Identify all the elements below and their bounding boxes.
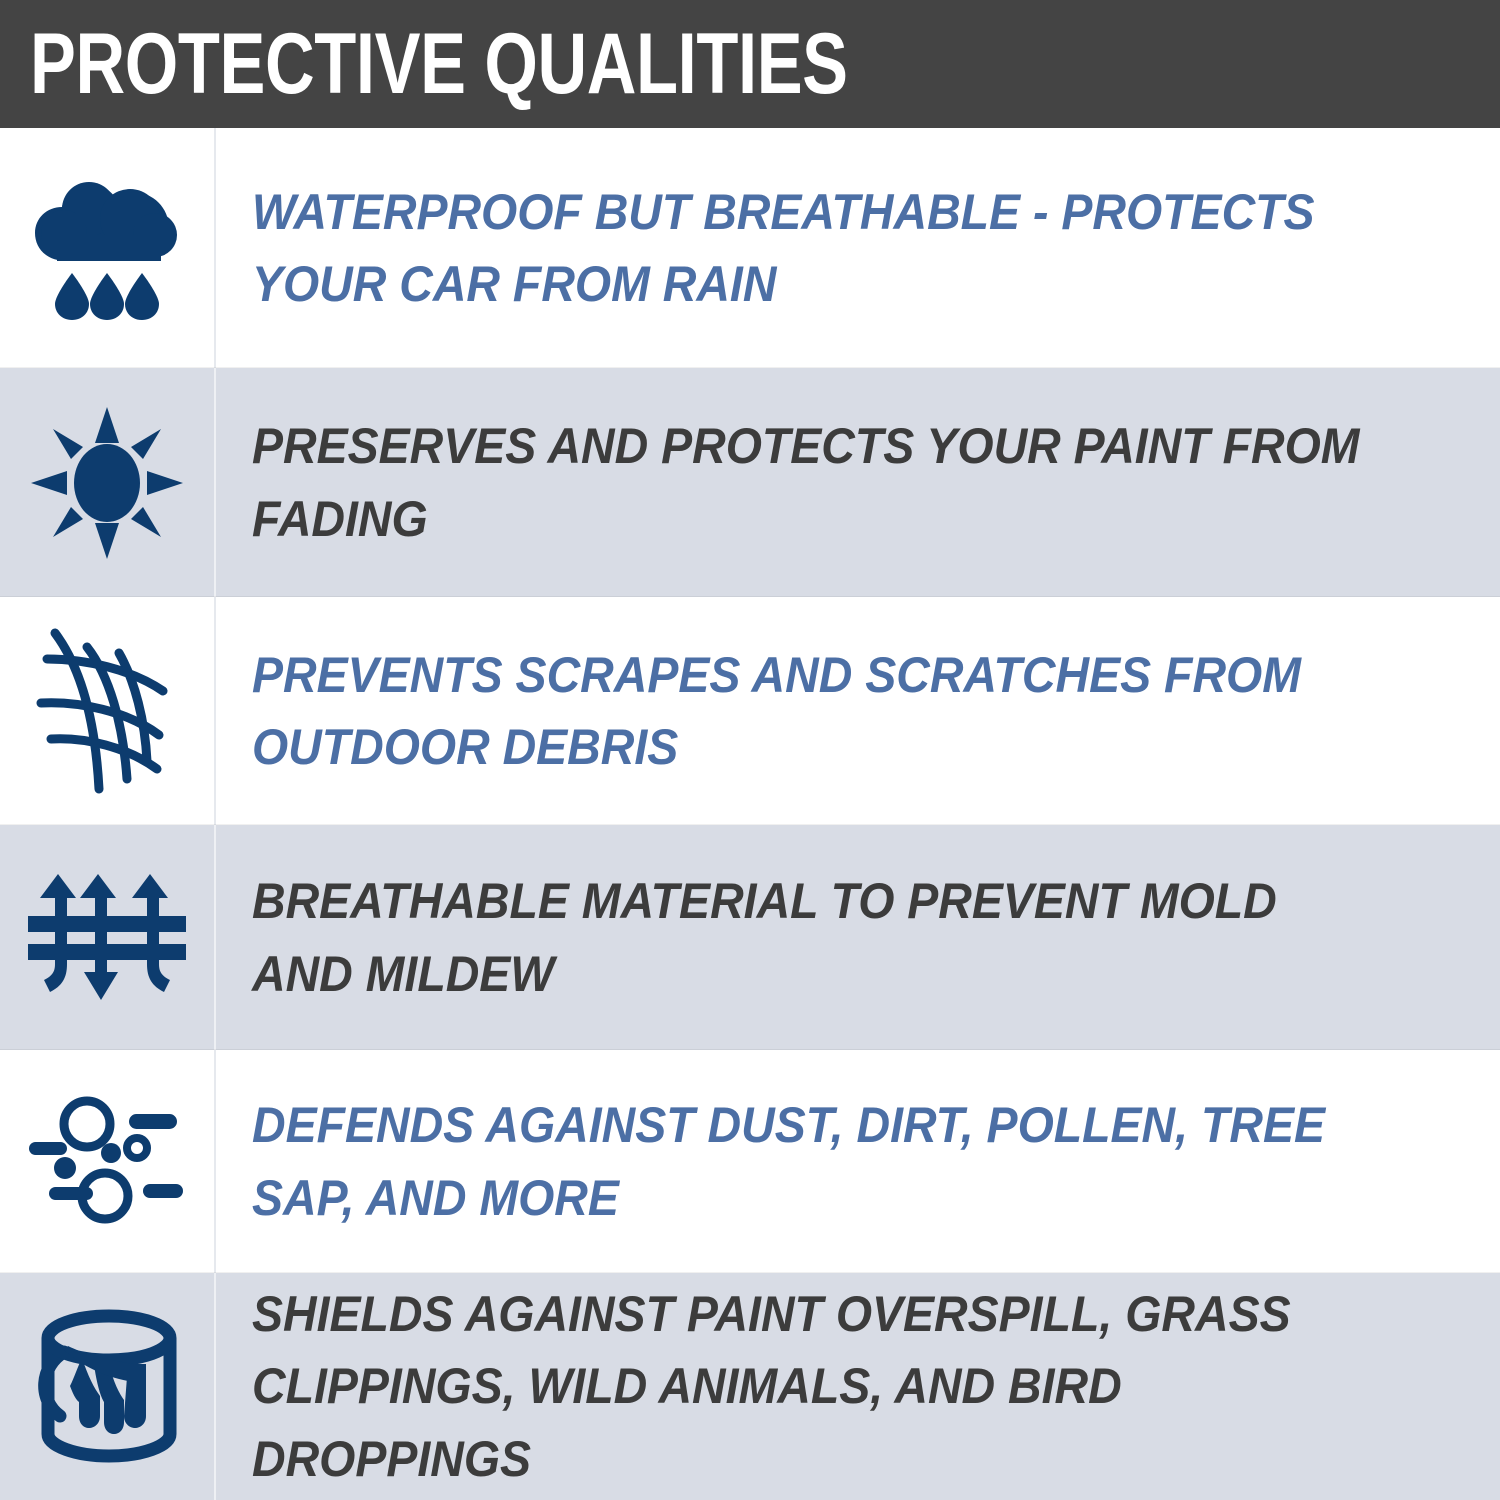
rain-cloud-icon [27, 173, 187, 323]
icon-cell [0, 1050, 214, 1273]
feature-text: PREVENTS SCRAPES AND SCRATCHES FROM OUTD… [252, 639, 1366, 784]
feature-text: WATERPROOF BUT BREATHABLE - PROTECTS YOU… [252, 176, 1366, 321]
text-cell: PRESERVES AND PROTECTS YOUR PAINT FROM F… [216, 368, 1500, 597]
feature-row: SHIELDS AGAINST PAINT OVERSPILL, GRASS C… [0, 1273, 1500, 1500]
text-cell: DEFENDS AGAINST DUST, DIRT, POLLEN, TREE… [216, 1050, 1500, 1273]
text-cell: SHIELDS AGAINST PAINT OVERSPILL, GRASS C… [216, 1273, 1500, 1500]
icon-cell [0, 128, 214, 368]
icon-cell [0, 1273, 214, 1500]
feature-text: DEFENDS AGAINST DUST, DIRT, POLLEN, TREE… [252, 1089, 1366, 1234]
scratches-mesh-icon [27, 619, 187, 804]
feature-row: PREVENTS SCRAPES AND SCRATCHES FROM OUTD… [0, 597, 1500, 825]
feature-row: BREATHABLE MATERIAL TO PREVENT MOLD AND … [0, 825, 1500, 1050]
feature-text: SHIELDS AGAINST PAINT OVERSPILL, GRASS C… [252, 1278, 1366, 1496]
header-bar: PROTECTIVE QUALITIES [0, 0, 1500, 128]
text-cell: PREVENTS SCRAPES AND SCRATCHES FROM OUTD… [216, 597, 1500, 825]
protective-qualities-infographic: PROTECTIVE QUALITIES [0, 0, 1500, 1500]
breathable-airflow-icon [26, 868, 188, 1008]
feature-row: DEFENDS AGAINST DUST, DIRT, POLLEN, TREE… [0, 1050, 1500, 1273]
feature-list: WATERPROOF BUT BREATHABLE - PROTECTS YOU… [0, 128, 1500, 1500]
feature-text: PRESERVES AND PROTECTS YOUR PAINT FROM F… [252, 410, 1366, 555]
text-cell: BREATHABLE MATERIAL TO PREVENT MOLD AND … [216, 825, 1500, 1050]
icon-cell [0, 825, 214, 1050]
icon-cell [0, 597, 214, 825]
icon-cell [0, 368, 214, 597]
dust-particles-icon [27, 1092, 187, 1232]
feature-row: PRESERVES AND PROTECTS YOUR PAINT FROM F… [0, 368, 1500, 597]
feature-text: BREATHABLE MATERIAL TO PREVENT MOLD AND … [252, 865, 1366, 1010]
text-cell: WATERPROOF BUT BREATHABLE - PROTECTS YOU… [216, 128, 1500, 368]
sun-icon [29, 405, 185, 561]
paint-can-icon [24, 1304, 190, 1470]
feature-row: WATERPROOF BUT BREATHABLE - PROTECTS YOU… [0, 128, 1500, 368]
page-title: PROTECTIVE QUALITIES [30, 21, 848, 107]
